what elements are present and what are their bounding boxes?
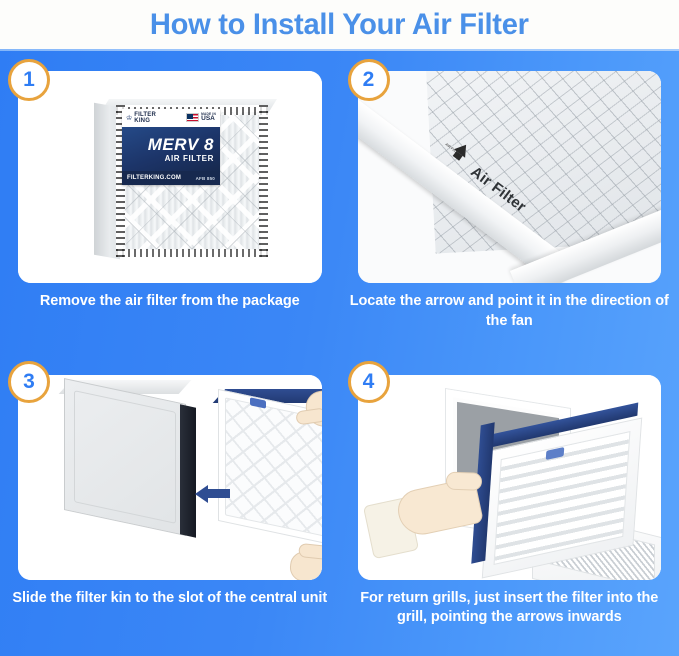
made-in-usa-lockup: MADE IN USA (186, 113, 216, 123)
arrow-head (195, 485, 208, 503)
label-main-area: MERV 8 AIR FILTER (122, 127, 220, 171)
step-badge-3: 3 (8, 361, 50, 403)
step-badge-1: 1 (8, 59, 50, 101)
crown-icon: ♔ (126, 115, 132, 122)
brand-name: FILTER KING (134, 112, 156, 125)
brand-line-2: KING (134, 118, 150, 124)
step-card-1: ♔ FILTER KING MADE IN (18, 71, 322, 283)
step-cell-1: 1 (0, 49, 340, 353)
label-header-row: ♔ FILTER KING MADE IN (122, 109, 220, 127)
filter-edge-bottom (116, 249, 268, 257)
filter-edge-right (259, 105, 268, 257)
page-title: How to Install Your Air Filter (150, 10, 529, 40)
step-caption-4: For return grills, just insert the filte… (350, 589, 670, 628)
product-label: ♔ FILTER KING MADE IN (122, 109, 220, 185)
usa-flag-icon (186, 113, 199, 122)
hand-lower (289, 550, 322, 580)
unit-front-face (64, 378, 186, 536)
header-bar: How to Install Your Air Filter (0, 0, 679, 49)
air-filter-product-image: ♔ FILTER KING MADE IN (94, 99, 274, 264)
label-subtitle: AIR FILTER (165, 155, 214, 163)
arrow-tail (208, 489, 230, 498)
step-cell-4: 4 For return grills, just insert the fil… (340, 353, 679, 656)
unit-slot-opening (180, 404, 196, 537)
step-card-3 (18, 375, 322, 580)
step-caption-2: Locate the arrow and point it in the dir… (350, 292, 670, 331)
step-card-4 (358, 375, 662, 580)
insert-direction-arrow-icon (195, 485, 230, 503)
label-footer-row: FILTERKING.COM AFB 850 (122, 171, 220, 185)
step-card-2: AIR FLOW Air Filter (358, 71, 662, 283)
filter-corner-photo: AIR FLOW Air Filter (358, 71, 662, 283)
country-label: MADE IN USA (201, 113, 216, 123)
step-badge-4: 4 (348, 361, 390, 403)
step-badge-2: 2 (348, 59, 390, 101)
brand-lockup: ♔ FILTER KING (126, 112, 156, 125)
label-website: FILTERKING.COM (127, 175, 181, 181)
step-cell-3: 3 Slide the (0, 353, 340, 656)
infographic-page: How to Install Your Air Filter 1 (0, 0, 679, 656)
slide-into-unit-illustration (18, 375, 322, 580)
brand-line-1: FILTER (134, 112, 156, 118)
step-caption-1: Remove the air filter from the package (10, 292, 330, 312)
merv-rating: MERV 8 (148, 136, 214, 153)
step-cell-2: 2 AIR FLOW Air Filter Locate the arrow a… (340, 49, 679, 353)
step-caption-3: Slide the filter kin to the slot of the … (10, 589, 330, 609)
return-grill-illustration (358, 375, 662, 580)
product-photo-1: ♔ FILTER KING MADE IN (18, 71, 322, 283)
steps-grid: 1 (0, 49, 679, 656)
hand-holding-grill (394, 476, 484, 538)
country-text: USA (201, 115, 215, 122)
label-sku: AFB 850 (196, 176, 215, 181)
